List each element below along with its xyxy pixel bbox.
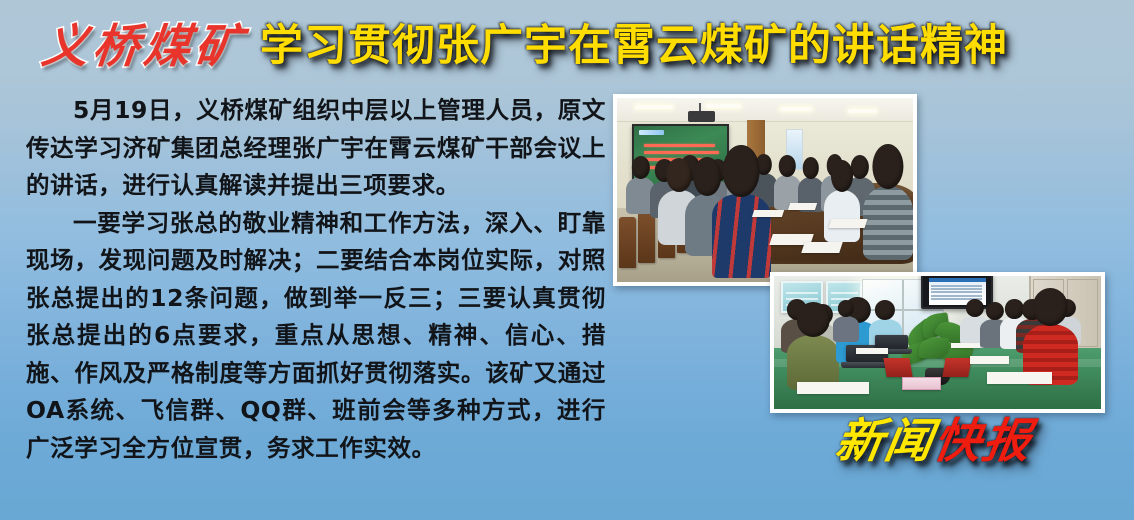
projector-icon <box>688 111 715 122</box>
badge-text-secondary: 快报 <box>930 414 1037 469</box>
ceiling-lamp-icon <box>780 107 813 111</box>
ceiling-lamp-icon <box>848 109 878 113</box>
ceiling-lamp-icon <box>635 105 673 109</box>
document-paper <box>856 348 889 355</box>
document-paper <box>787 203 816 210</box>
badge-text-primary: 新闻 <box>832 414 939 469</box>
attendee <box>863 186 913 260</box>
poster-headline: 学习贯彻张广宇在霄云煤矿的讲话精神 <box>260 25 1008 68</box>
news-bulletin-badge: 新闻快报 <box>832 418 1035 465</box>
attendee-foreground <box>712 194 771 279</box>
poster-header: 义桥煤矿 学习贯彻张广宇在霄云煤矿的讲话精神 <box>0 0 1134 92</box>
document-paper <box>951 343 980 348</box>
photo-meeting-conference-room <box>613 94 917 286</box>
slide-text-line <box>644 144 715 147</box>
article-paragraph-1: 5月19日，义桥煤矿组织中层以上管理人员，原文传达学习济矿集团总经理张广宇在霄云… <box>26 92 606 205</box>
mine-brand-logo: 义桥煤矿 <box>40 23 249 69</box>
slide-logo-icon <box>639 130 663 135</box>
document-paper <box>797 382 869 394</box>
slide-text-line <box>644 151 719 154</box>
attendee <box>833 316 859 343</box>
red-folder <box>942 358 971 377</box>
attendee <box>824 190 860 242</box>
article-body: 5月19日，义桥煤矿组织中层以上管理人员，原文传达学习济矿集团总经理张广宇在霄云… <box>26 92 606 467</box>
photo-meeting-green-tables <box>770 272 1105 413</box>
news-poster: 义桥煤矿 学习贯彻张广宇在霄云煤矿的讲话精神 5月19日，义桥煤矿组织中层以上管… <box>0 0 1134 520</box>
document-paper <box>802 242 844 253</box>
document-paper <box>829 219 868 228</box>
ceiling-lamp-icon <box>706 104 742 108</box>
document-paper <box>970 356 1009 364</box>
document-paper <box>987 372 1052 384</box>
red-folder <box>884 358 913 377</box>
document-paper <box>752 210 784 217</box>
article-paragraph-2: 一要学习张总的敬业精神和工作方法，深入、盯靠现场，发现问题及时解决；二要结合本岗… <box>26 205 606 468</box>
name-placard <box>902 377 941 390</box>
